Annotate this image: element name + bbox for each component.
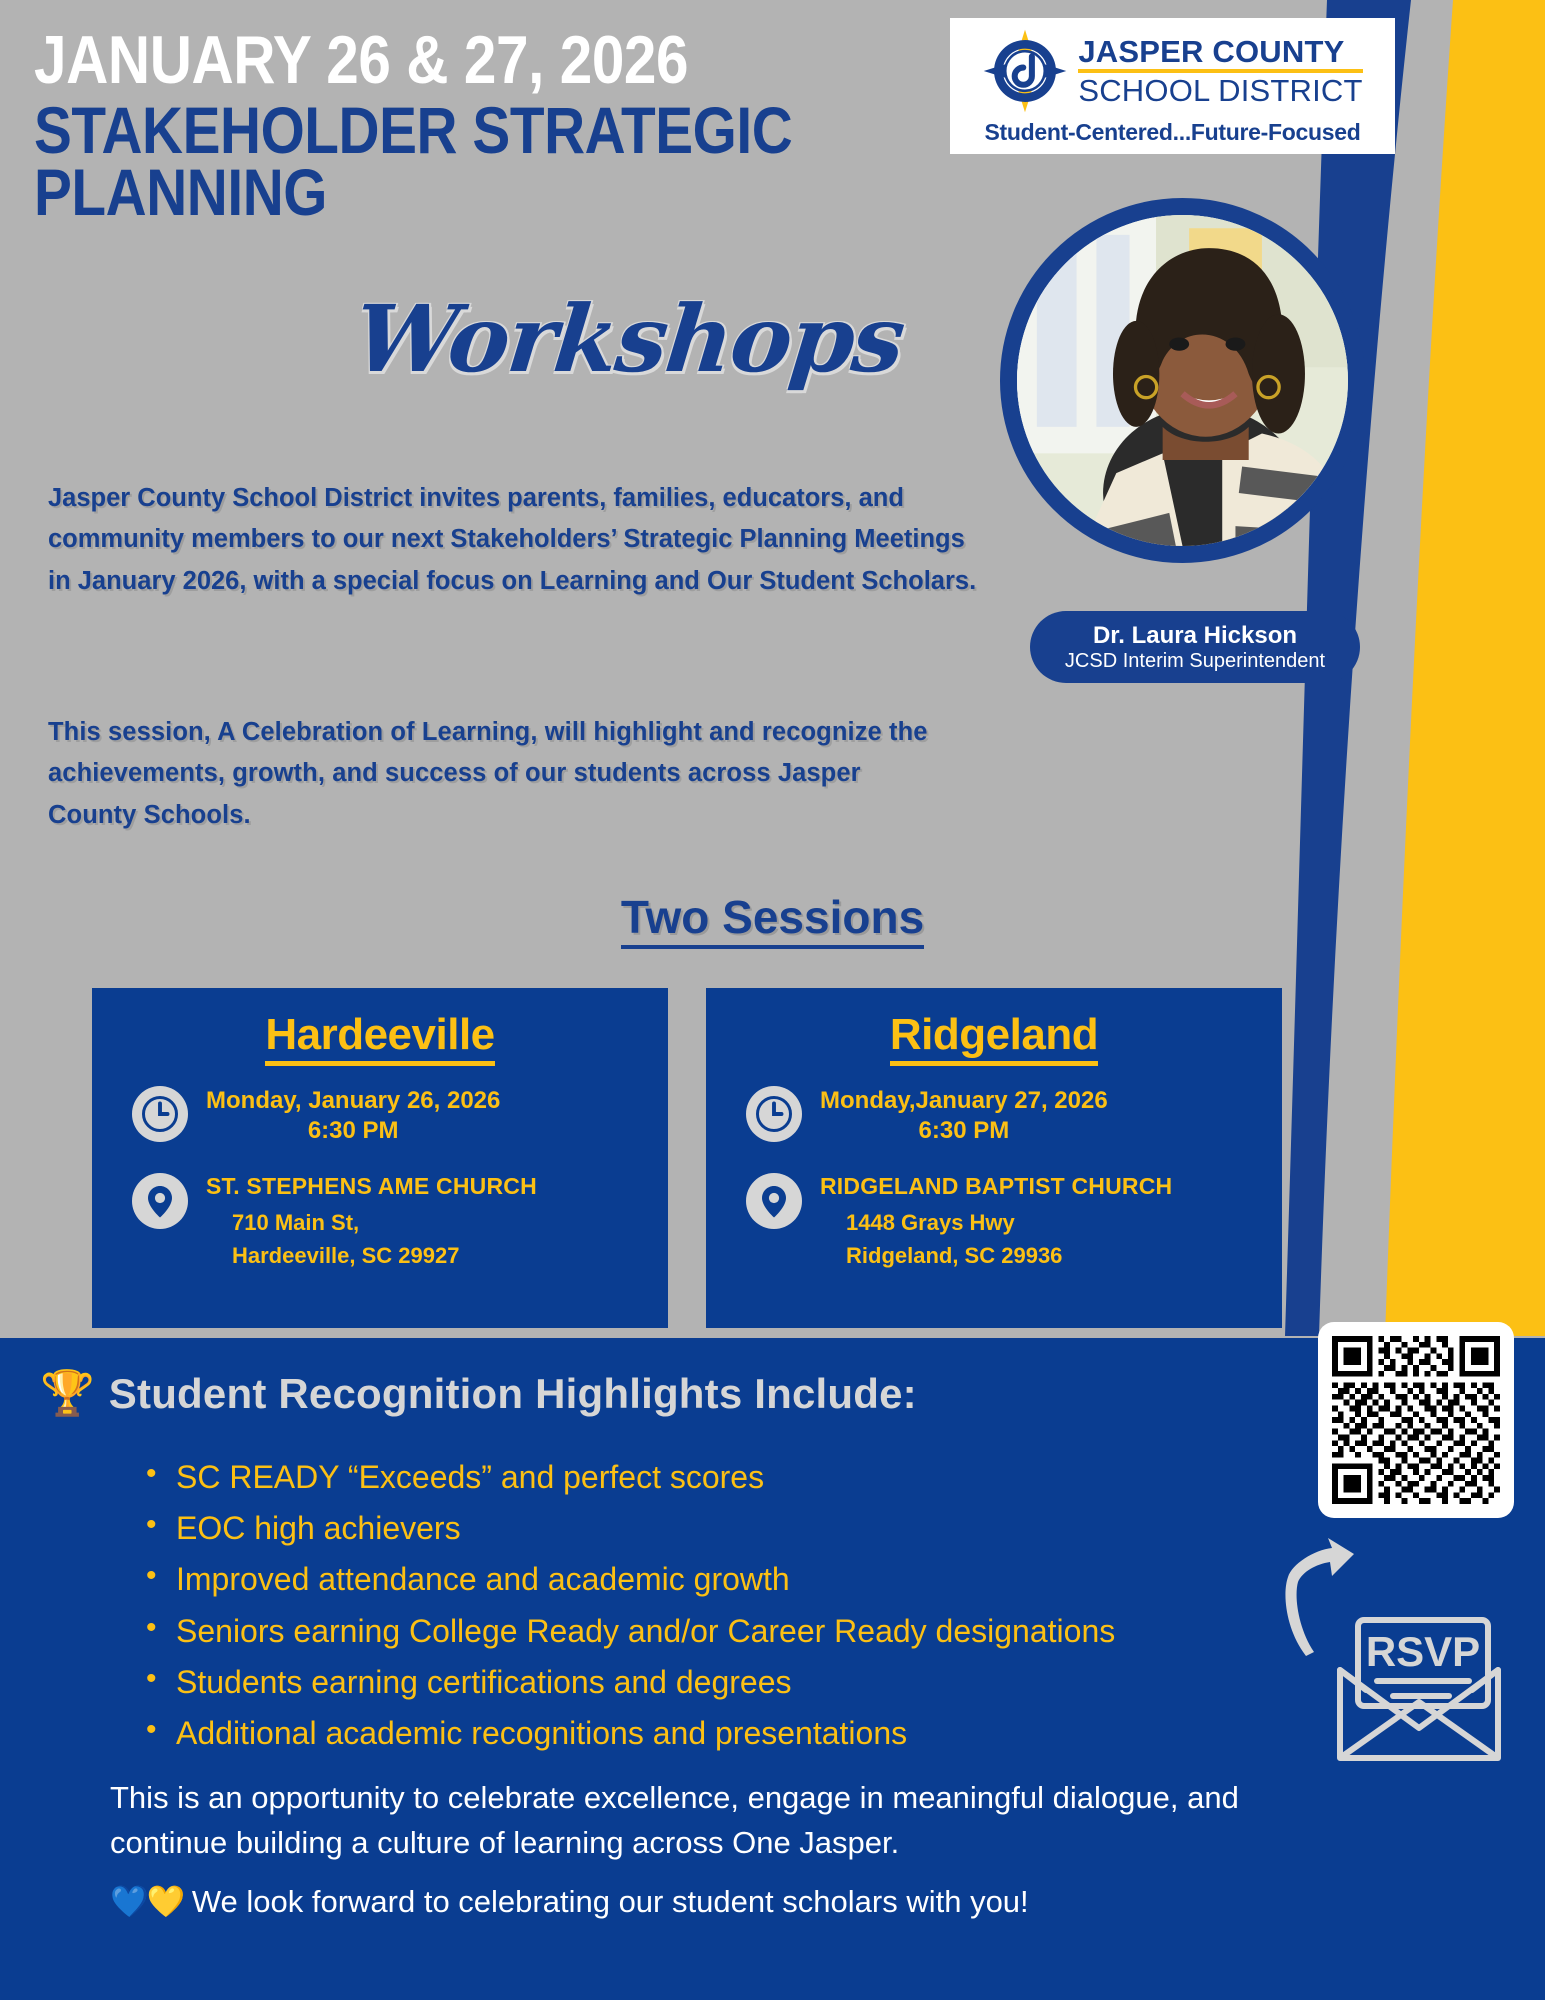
open-envelope-with-card-and-arrow-icon: RSVP bbox=[1270, 1532, 1510, 1762]
signoff-text: We look forward to celebrating our stude… bbox=[183, 1884, 1028, 1919]
event-dates: JANUARY 26 & 27, 2026 bbox=[34, 28, 825, 93]
session-location-row: ST. STEPHENS AME CHURCH 710 Main St, Har… bbox=[112, 1173, 648, 1272]
rsvp-label: RSVP bbox=[1366, 1628, 1480, 1675]
session-time-row: Monday, January 26, 2026 6:30 PM bbox=[112, 1086, 648, 1145]
heart-icons: 💙💛 bbox=[110, 1884, 183, 1919]
session-address-line-2: Ridgeland, SC 29936 bbox=[846, 1239, 1172, 1272]
session-city-label: Hardeeville bbox=[265, 1010, 494, 1066]
session-city-heading: Ridgeland bbox=[726, 1010, 1262, 1060]
qr-code-card[interactable] bbox=[1318, 1322, 1514, 1518]
trophy-icon: 🏆 bbox=[40, 1372, 95, 1416]
session-card-hardeeville: Hardeeville Monday, January 26, 2026 6:3… bbox=[92, 988, 668, 1328]
portrait-photo bbox=[1017, 215, 1348, 546]
qr-code-icon[interactable] bbox=[1332, 1336, 1500, 1504]
portrait-ring bbox=[1000, 198, 1365, 563]
session-venue: ST. STEPHENS AME CHURCH bbox=[206, 1173, 537, 1200]
highlights-header: 🏆 Student Recognition Highlights Include… bbox=[40, 1370, 917, 1418]
title-line-1: STAKEHOLDER STRATEGIC bbox=[34, 99, 825, 161]
compass-star-j-monogram-icon bbox=[982, 28, 1068, 114]
superintendent-name: Dr. Laura Hickson bbox=[1030, 623, 1360, 649]
list-item: SC READY “Exceeds” and perfect scores bbox=[140, 1456, 1220, 1499]
list-item: Additional academic recognitions and pre… bbox=[140, 1712, 1220, 1755]
logo-line-2: SCHOOL DISTRICT bbox=[1078, 75, 1362, 106]
page-title: STAKEHOLDER STRATEGIC PLANNING bbox=[34, 99, 825, 223]
headline-block: JANUARY 26 & 27, 2026 STAKEHOLDER STRATE… bbox=[34, 28, 954, 223]
sessions-heading-text: Two Sessions bbox=[621, 891, 924, 949]
session-address: 1448 Grays Hwy Ridgeland, SC 29936 bbox=[820, 1206, 1172, 1272]
superintendent-role: JCSD Interim Superintendent bbox=[1030, 649, 1360, 673]
session-city-heading: Hardeeville bbox=[112, 1010, 648, 1060]
intro-paragraph-1: Jasper County School District invites pa… bbox=[48, 478, 978, 602]
session-address-line-1: 1448 Grays Hwy bbox=[846, 1206, 1172, 1239]
session-date: Monday,January 27, 2026 bbox=[820, 1086, 1108, 1117]
intro-paragraph-2: This session, A Celebration of Learning,… bbox=[48, 712, 948, 836]
location-pin-icon bbox=[132, 1173, 188, 1229]
rsvp-graphic: RSVP bbox=[1270, 1532, 1510, 1762]
clock-icon bbox=[746, 1086, 802, 1142]
closing-paragraph: This is an opportunity to celebrate exce… bbox=[110, 1776, 1250, 1866]
list-item: EOC high achievers bbox=[140, 1507, 1220, 1550]
session-city-label: Ridgeland bbox=[890, 1010, 1098, 1066]
session-location-row: RIDGELAND BAPTIST CHURCH 1448 Grays Hwy … bbox=[726, 1173, 1262, 1272]
session-date: Monday, January 26, 2026 bbox=[206, 1086, 500, 1117]
session-time-row: Monday,January 27, 2026 6:30 PM bbox=[726, 1086, 1262, 1145]
location-pin-icon bbox=[746, 1173, 802, 1229]
list-item: Seniors earning College Ready and/or Car… bbox=[140, 1610, 1220, 1653]
highlights-heading: Student Recognition Highlights Include: bbox=[109, 1370, 917, 1418]
session-address-line-2: Hardeeville, SC 29927 bbox=[232, 1239, 537, 1272]
highlights-list: SC READY “Exceeds” and perfect scores EO… bbox=[140, 1456, 1220, 1763]
session-time: 6:30 PM bbox=[820, 1117, 1108, 1145]
signoff-line: 💙💛 We look forward to celebrating our st… bbox=[110, 1883, 1260, 1920]
script-subtitle: Workshops bbox=[349, 285, 908, 393]
sessions-container: Hardeeville Monday, January 26, 2026 6:3… bbox=[92, 988, 1282, 1328]
title-line-2: PLANNING bbox=[34, 161, 825, 223]
logo-line-1: JASPER COUNTY bbox=[1078, 36, 1362, 67]
session-card-ridgeland: Ridgeland Monday,January 27, 2026 6:30 P… bbox=[706, 988, 1282, 1328]
clock-icon bbox=[132, 1086, 188, 1142]
portrait-nameplate: Dr. Laura Hickson JCSD Interim Superinte… bbox=[1030, 611, 1360, 683]
sessions-heading: Two Sessions bbox=[0, 890, 1545, 944]
superintendent-portrait bbox=[1000, 198, 1365, 563]
session-address-line-1: 710 Main St, bbox=[232, 1206, 537, 1239]
list-item: Students earning certifications and degr… bbox=[140, 1661, 1220, 1704]
session-address: 710 Main St, Hardeeville, SC 29927 bbox=[206, 1206, 537, 1272]
session-time: 6:30 PM bbox=[206, 1117, 500, 1145]
session-venue: RIDGELAND BAPTIST CHURCH bbox=[820, 1173, 1172, 1200]
logo-tagline: Student-Centered...Future-Focused bbox=[984, 119, 1360, 146]
flyer-page: JANUARY 26 & 27, 2026 STAKEHOLDER STRATE… bbox=[0, 0, 1545, 2000]
list-item: Improved attendance and academic growth bbox=[140, 1558, 1220, 1601]
district-logo: JASPER COUNTY SCHOOL DISTRICT Student-Ce… bbox=[950, 18, 1395, 154]
